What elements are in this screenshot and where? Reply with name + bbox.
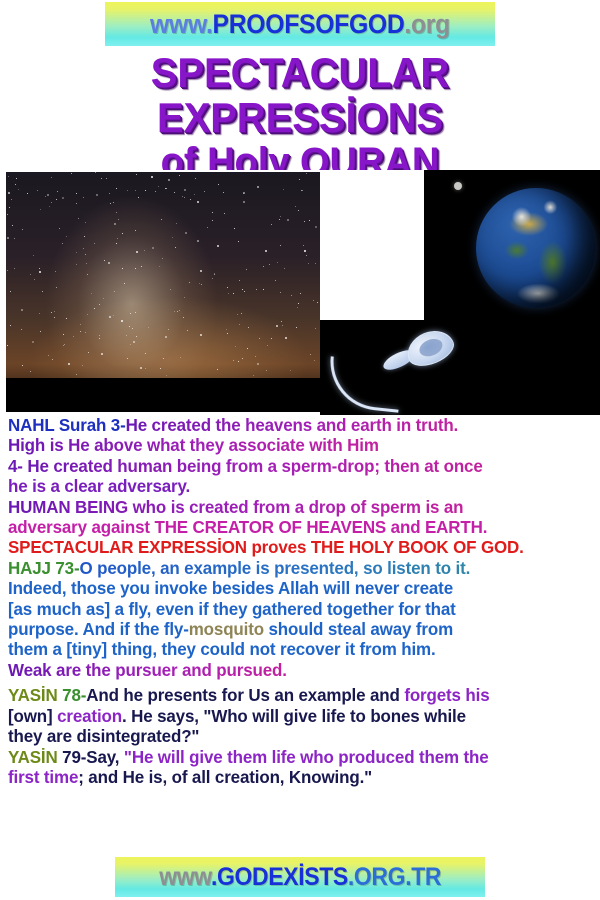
- top-banner-text: www.PROOFSOFGOD.org: [150, 9, 450, 40]
- verse-line: YASİN 79-Say, "He will give them life wh…: [8, 747, 582, 767]
- verse-line: 4- He created human being from a sperm-d…: [8, 456, 582, 476]
- earth-globe: [476, 188, 596, 308]
- verse-fragment: YASİN: [8, 685, 58, 705]
- sperm-cell-illustration: [320, 320, 600, 415]
- verse-yasin-79: YASİN 79-Say, "He will give them life wh…: [8, 747, 582, 788]
- verse-line: HUMAN BEING who is created from a drop o…: [8, 497, 582, 517]
- verse-fragment: High is He above what they associate wit…: [8, 435, 379, 455]
- verse-fragment: YASİN: [8, 747, 58, 767]
- moon-dot-icon: [454, 182, 462, 190]
- verse-fragment: HAJJ 73-: [8, 558, 79, 578]
- verse-nahl-3: NAHL Surah 3-He created the heavens and …: [8, 415, 582, 456]
- verse-fragment: they are disintegrated?": [8, 726, 199, 746]
- bottom-banner-text: www.GODEXİSTS.ORG.TR: [159, 863, 441, 892]
- verse-commentary-spectacular: SPECTACULAR EXPRESSİON proves THE HOLY B…: [8, 537, 582, 557]
- bottom-banner-www: www: [159, 863, 211, 891]
- verse-nahl-4: 4- He created human being from a sperm-d…: [8, 456, 582, 497]
- bottom-website-banner: www.GODEXİSTS.ORG.TR: [115, 857, 485, 897]
- verse-fragment: SPECTACULAR EXPRESSİON proves THE HOLY B…: [8, 537, 524, 557]
- poster: www.PROOFSOFGOD.org SPECTACULAR EXPRESSİ…: [0, 0, 600, 900]
- verse-line: Weak are the pursuer and pursued.: [8, 660, 582, 680]
- verse-fragment: 4- He created human being from a sperm-d…: [8, 456, 483, 476]
- verse-fragment: 79-Say,: [58, 747, 124, 767]
- bottom-banner-tld: .ORG.TR: [348, 863, 441, 891]
- verse-line: [as much as] a fly, even if they gathere…: [8, 599, 582, 619]
- verse-fragment: adversary against THE CREATOR OF HEAVENS…: [8, 517, 487, 537]
- bottom-banner-domain: .GODEXİSTS: [211, 863, 348, 891]
- verse-text-block: NAHL Surah 3-He created the heavens and …: [8, 415, 582, 787]
- verse-hajj-73: HAJJ 73-O people, an example is presente…: [8, 558, 582, 680]
- verse-fragment: them a [tiny] thing, they could not reco…: [8, 639, 436, 659]
- verse-fragment: he is a clear adversary.: [8, 476, 190, 496]
- verse-line: High is He above what they associate wit…: [8, 435, 582, 455]
- top-banner-domain: PROOFSOFGOD: [213, 9, 405, 39]
- verse-line: SPECTACULAR EXPRESSİON proves THE HOLY B…: [8, 537, 582, 557]
- top-website-banner: www.PROOFSOFGOD.org: [105, 2, 495, 46]
- verse-fragment: should steal away from: [264, 619, 453, 639]
- sperm-head: [402, 324, 458, 372]
- verse-line: first time; and He is, of all creation, …: [8, 767, 582, 787]
- verse-fragment: first time: [8, 767, 78, 787]
- verse-fragment: Weak are the pursuer and pursued.: [8, 660, 287, 680]
- verse-line: YASİN 78-And he presents for Us an examp…: [8, 685, 582, 705]
- earth-from-space-photo: [424, 170, 600, 335]
- verse-line: Indeed, those you invoke besides Allah w…: [8, 578, 582, 598]
- verse-line: purpose. And if the fly-mosquito should …: [8, 619, 582, 639]
- image-collage: [0, 170, 600, 415]
- verse-fragment: He created the heavens and earth in trut…: [126, 415, 459, 435]
- milky-way-night-sky-photo: [6, 172, 320, 412]
- verse-line: [own] creation. He says, "Who will give …: [8, 706, 582, 726]
- verse-fragment: creation: [57, 706, 122, 726]
- verse-fragment: O people, an example is presented, so li…: [79, 558, 470, 578]
- title-line-1: SPECTACULAR EXPRESSİONS: [151, 49, 450, 141]
- verse-fragment: [own]: [8, 706, 57, 726]
- verse-fragment: "He will give them life who produced the…: [124, 747, 489, 767]
- verse-fragment: And he presents for Us an example and: [86, 685, 404, 705]
- verse-line: he is a clear adversary.: [8, 476, 582, 496]
- verse-yasin-78: YASİN 78-And he presents for Us an examp…: [8, 685, 582, 746]
- verse-fragment: 78-: [58, 685, 87, 705]
- verse-fragment: . He says, "Who will give life to bones …: [122, 706, 466, 726]
- verse-line: adversary against THE CREATOR OF HEAVENS…: [8, 517, 582, 537]
- verse-fragment: HUMAN BEING who is created from a drop o…: [8, 497, 463, 517]
- top-banner-www: www.: [150, 9, 212, 39]
- verse-fragment: purpose. And if the fly-: [8, 619, 189, 639]
- verse-fragment: mosquito: [189, 619, 264, 639]
- tree-silhouette-ridge: [6, 378, 320, 412]
- verse-commentary-human-being: HUMAN BEING who is created from a drop o…: [8, 497, 582, 538]
- top-banner-tld: .org: [404, 9, 449, 39]
- verse-line: NAHL Surah 3-He created the heavens and …: [8, 415, 582, 435]
- poster-title: SPECTACULAR EXPRESSİONS of Holy QURAN: [15, 50, 585, 185]
- verse-line: HAJJ 73-O people, an example is presente…: [8, 558, 582, 578]
- verse-line: they are disintegrated?": [8, 726, 582, 746]
- verse-line: them a [tiny] thing, they could not reco…: [8, 639, 582, 659]
- verse-fragment: [as much as] a fly, even if they gathere…: [8, 599, 456, 619]
- verse-fragment: Indeed, those you invoke besides Allah w…: [8, 578, 453, 598]
- verse-fragment: forgets his: [404, 685, 489, 705]
- verse-fragment: NAHL Surah 3-: [8, 415, 126, 435]
- verse-fragment: ; and He is, of all creation, Knowing.": [78, 767, 372, 787]
